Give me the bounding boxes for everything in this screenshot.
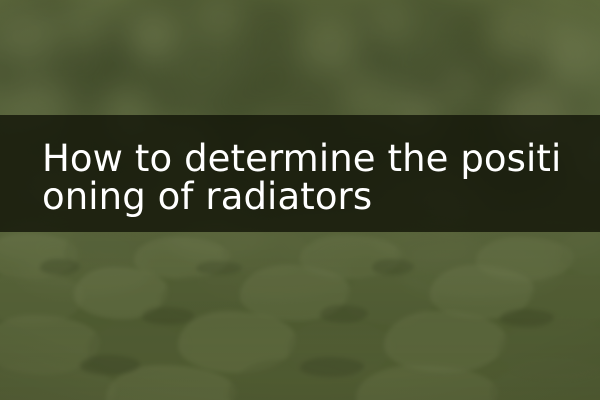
image-canvas: How to determine the positioning of radi… [0, 0, 600, 400]
caption-title: How to determine the positioning of radi… [42, 140, 574, 216]
caption-band: How to determine the positioning of radi… [0, 115, 600, 232]
